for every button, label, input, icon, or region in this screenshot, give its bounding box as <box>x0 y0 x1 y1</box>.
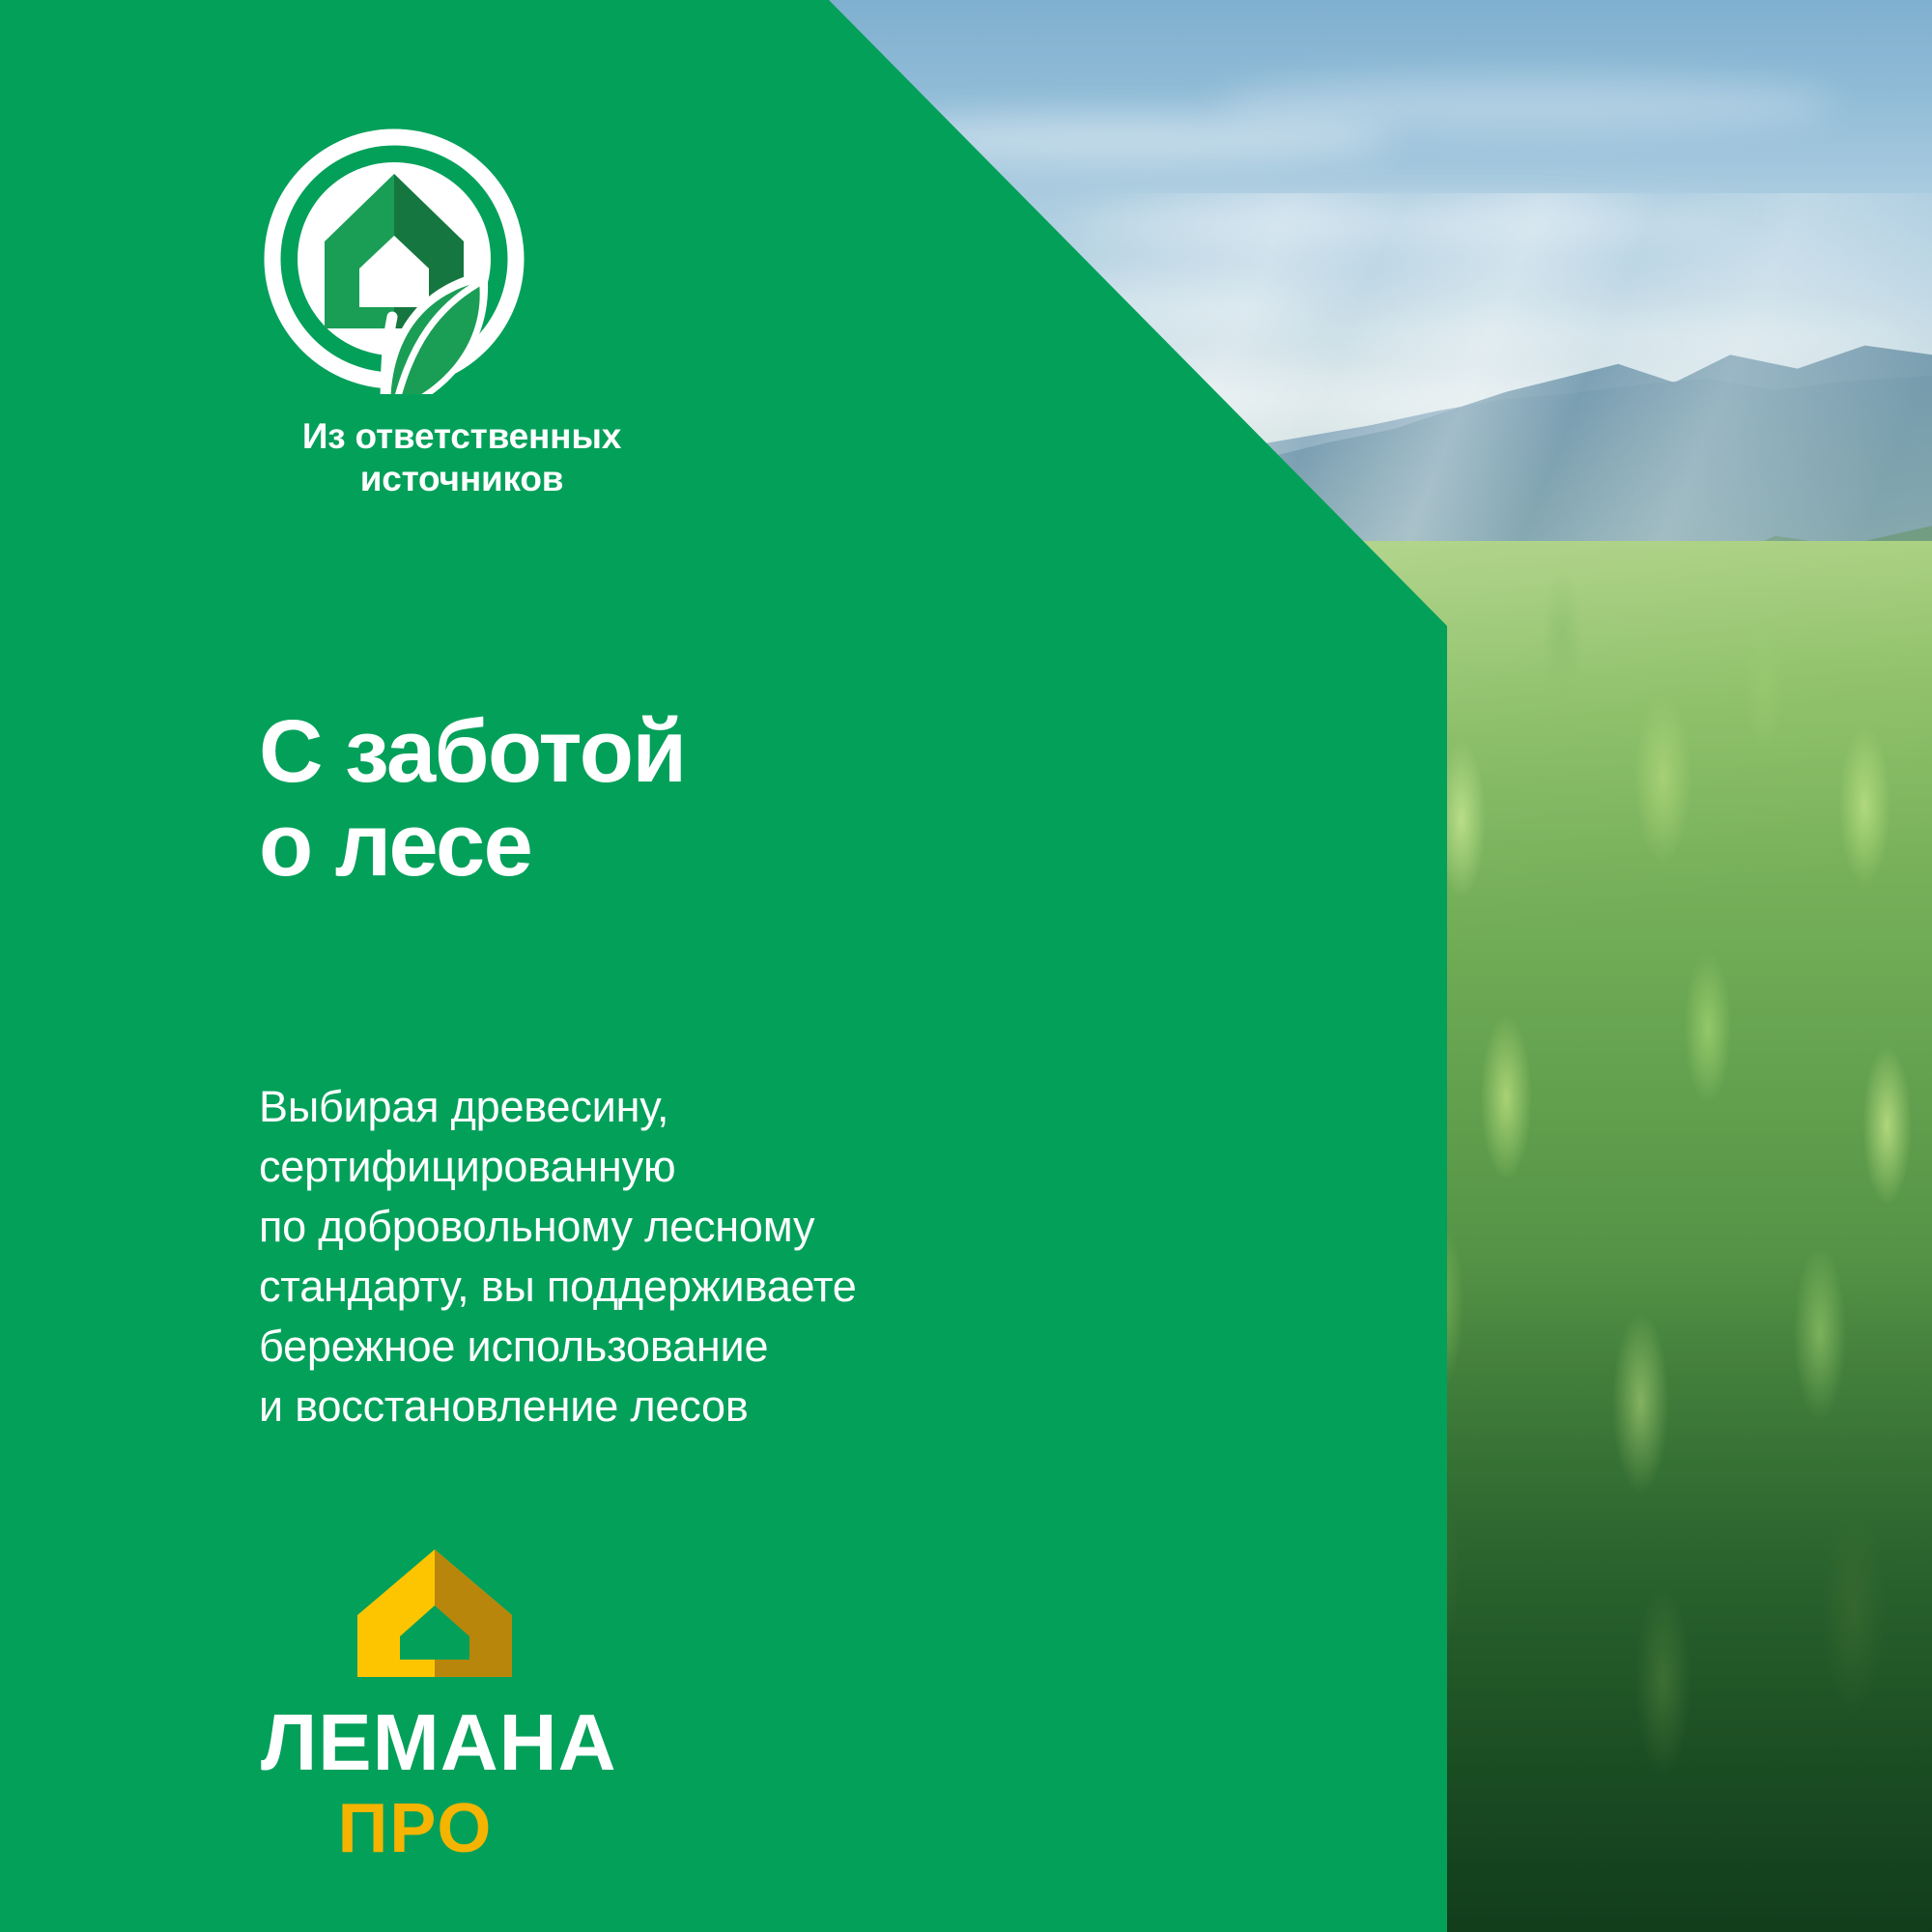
brand-logo: ЛЕМАНА ПРО <box>261 1546 628 1863</box>
poster-content: Из ответственных источников С заботой о … <box>0 0 1932 1932</box>
poster-canvas: Из ответственных источников С заботой о … <box>0 0 1932 1932</box>
page-title: С заботой о лесе <box>259 705 1032 894</box>
brand-subtitle: ПРО <box>261 1794 570 1863</box>
brand-name: ЛЕМАНА <box>261 1702 628 1782</box>
body-paragraph: Выбирая древесину, сертифицированную по … <box>259 1077 1051 1437</box>
lemana-house-icon <box>354 1546 516 1681</box>
house-leaf-circle-emblem <box>259 124 529 394</box>
certification-caption: Из ответственных источников <box>259 415 665 499</box>
